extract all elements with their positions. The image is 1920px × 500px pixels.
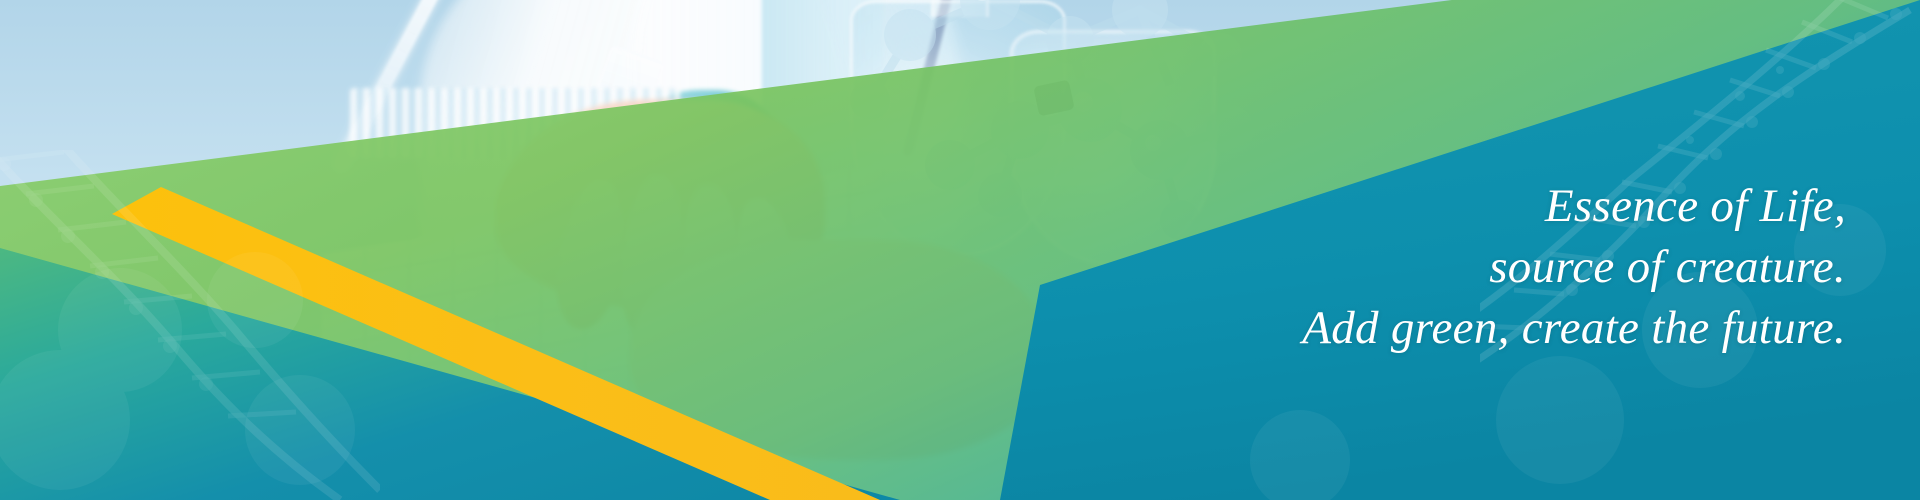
hero-banner: Essence of Life, source of creature. Add… bbox=[0, 0, 1920, 500]
headline: Essence of Life, source of creature. Add… bbox=[1302, 176, 1846, 359]
headline-line-1: Essence of Life, bbox=[1302, 176, 1846, 237]
headline-line-2: source of creature. bbox=[1302, 237, 1846, 298]
headline-line-3: Add green, create the future. bbox=[1302, 298, 1846, 359]
